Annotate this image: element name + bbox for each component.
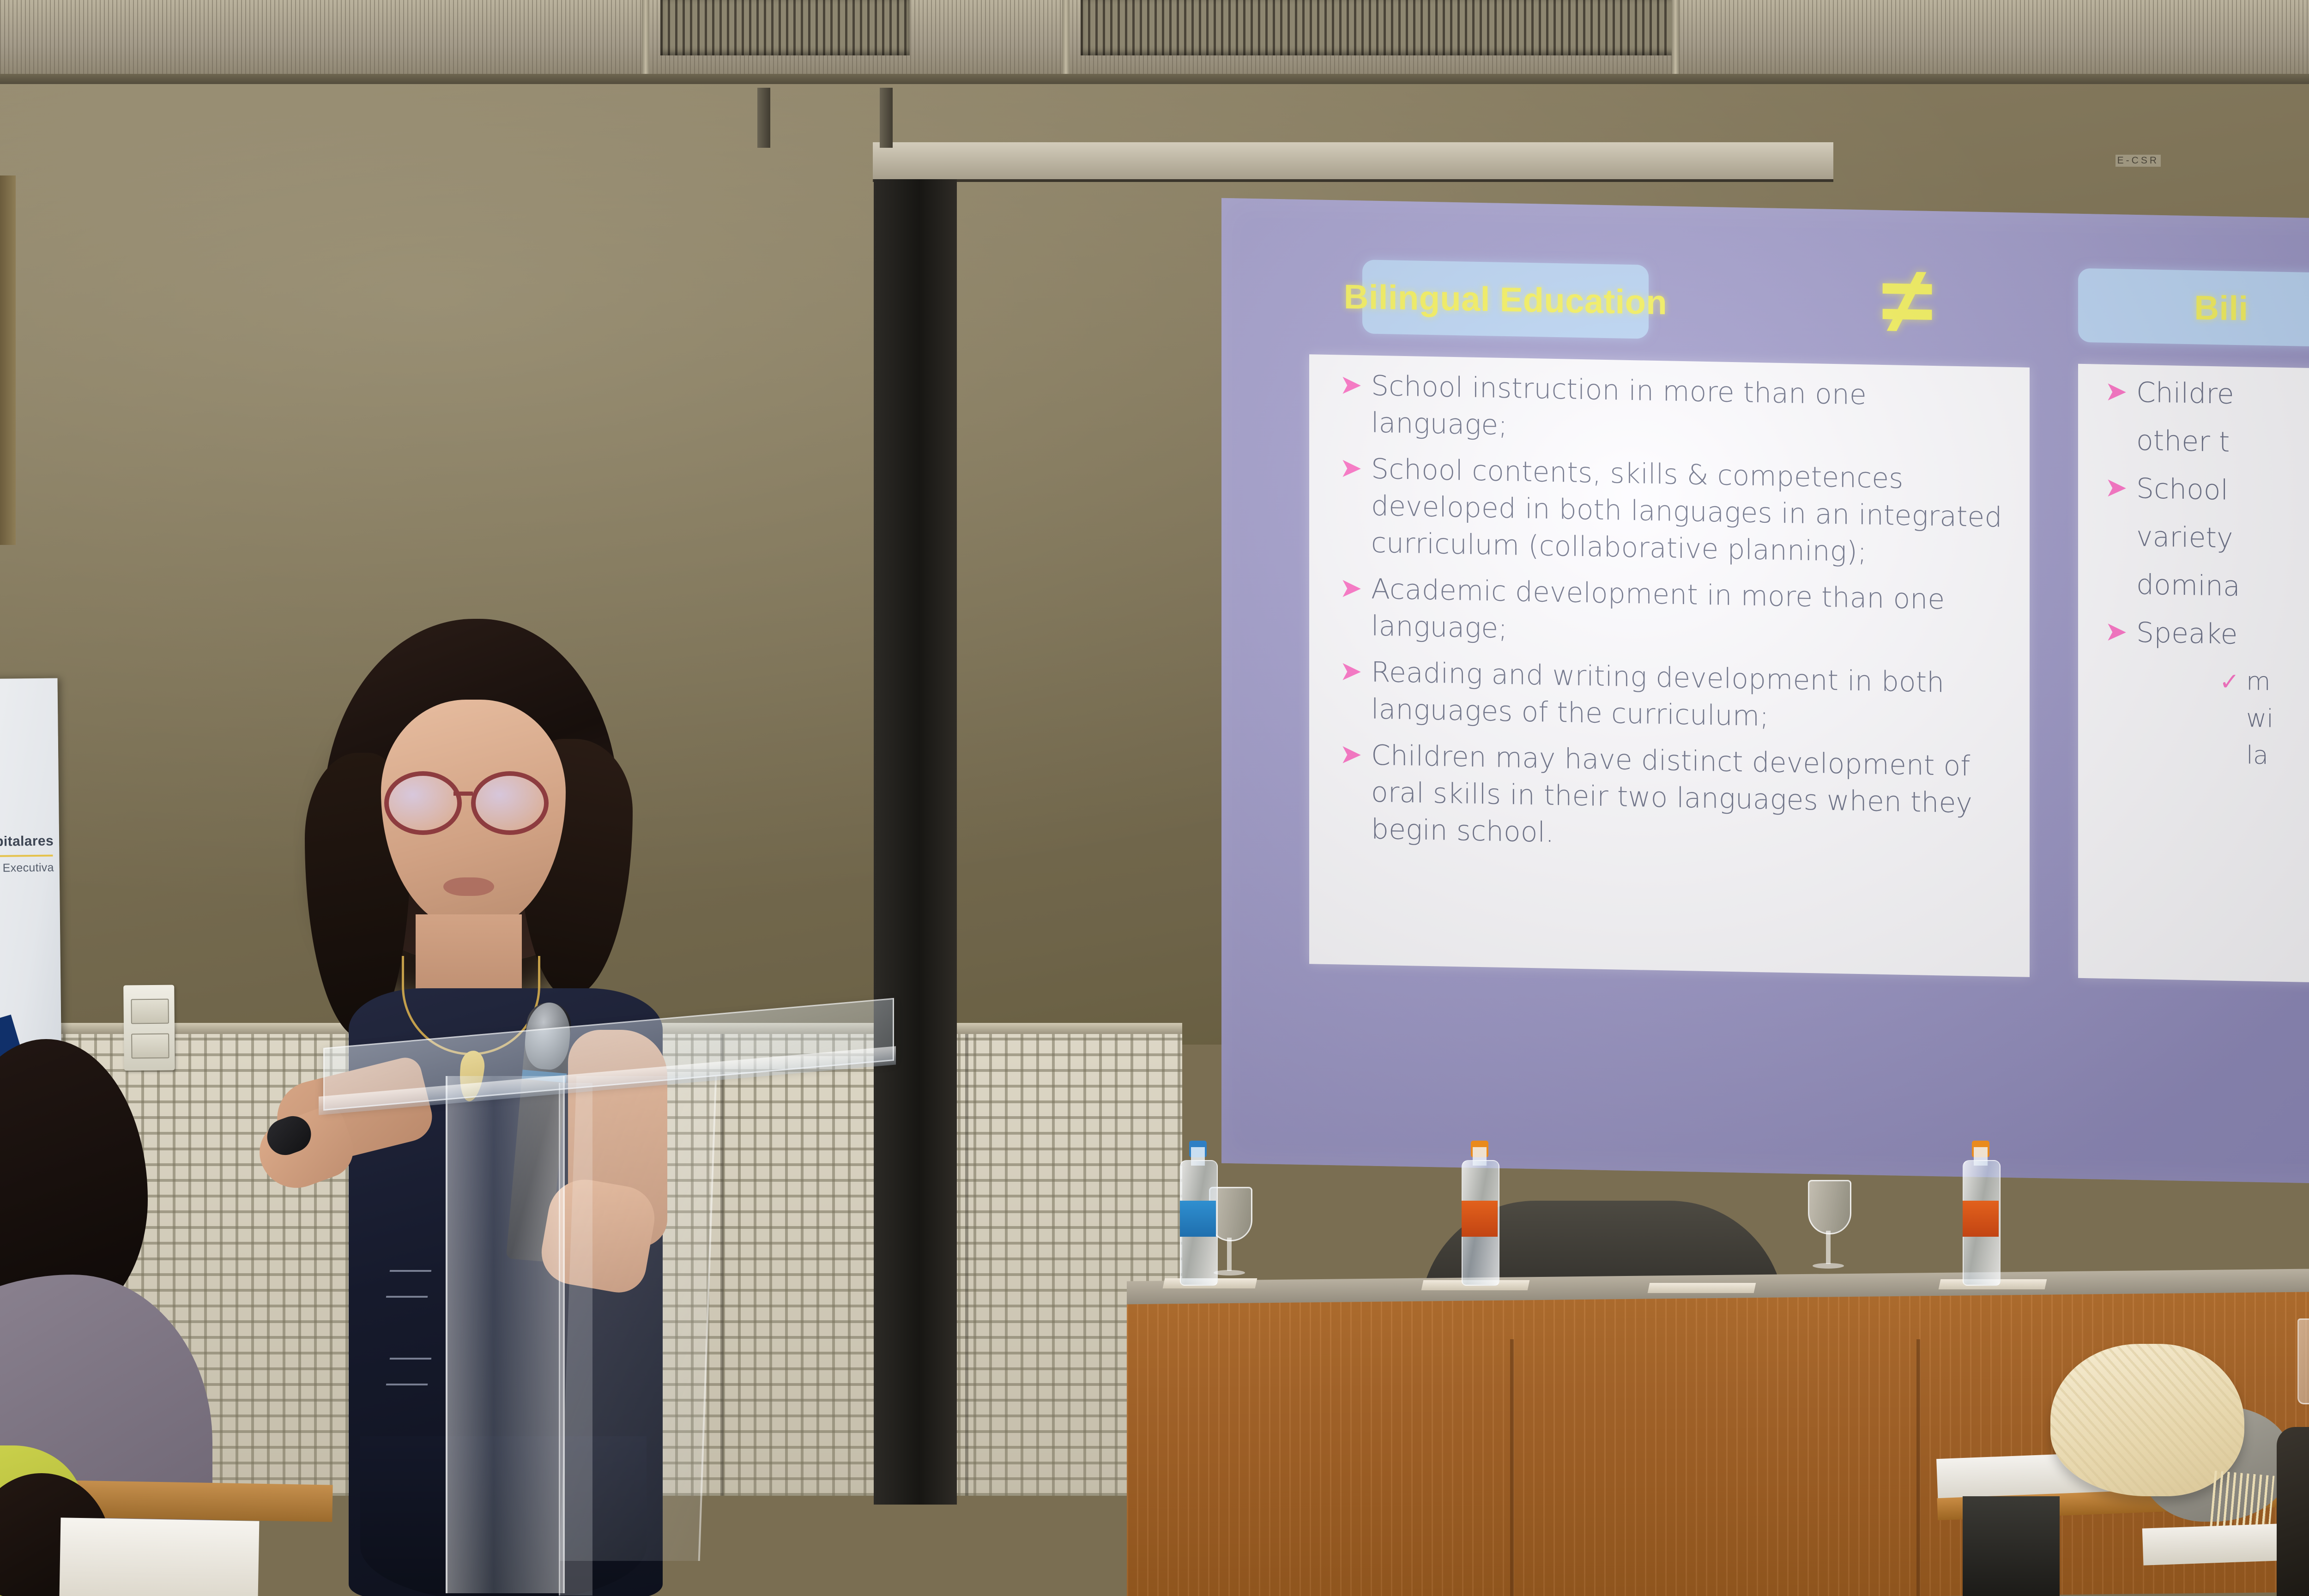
slide-bullet-text: variety [2136,520,2233,555]
arrow-bullet-icon: ➤ [1340,453,1362,482]
conference-room-photo: E-CSR Bilingual Education ≠ Bili ➤ Schoo… [0,0,2309,1596]
banner-divider [0,855,53,858]
arrow-bullet-icon: ➤ [2105,377,2128,405]
eyeglass-bridge [453,792,473,796]
table-panel-divider-2 [1916,1339,1920,1596]
arrow-bullet-icon: ➤ [1340,574,1362,602]
dress-lacing-2 [386,1358,431,1385]
slide-sub-bullet: ✓ m [2217,664,2309,701]
slide-title-left: Bilingual Education [1344,277,1667,322]
bottle-label [1180,1201,1216,1237]
water-bottle[interactable] [1462,1141,1498,1284]
wine-glass-stem [1227,1238,1232,1271]
slide-bullet-text: other t [2136,424,2230,459]
eyeglass-lens-right [471,771,549,835]
wine-glass[interactable] [1808,1180,1849,1270]
wine-glass-stem [1826,1231,1831,1264]
slide-bullet-continuation: other t [2097,421,2309,464]
shoulder-bag [2277,1427,2309,1596]
screen-bracket-right [880,88,893,148]
slide-left-content-panel: ➤ School instruction in more than one la… [1309,354,2030,977]
bottle-label [1963,1201,1999,1237]
banner-title: spitalares [0,834,54,851]
projection-screen-housing [873,142,1833,182]
lectern-side-panel [560,1076,717,1561]
slide-bullet: ➤ Speake [2097,613,2309,656]
table-panel-divider-1 [1510,1339,1514,1596]
slide-bullet-text: School contents, skills & competences de… [1371,453,2002,568]
lectern-column [446,1076,565,1593]
ceiling-beam-2 [1062,0,1070,81]
slide-sub-bullet-text: m [2246,666,2271,696]
door-frame [0,175,16,545]
eyeglass-lens-left [384,771,462,835]
slide-title-right: Bili [2194,288,2248,328]
slide-bullet-continuation: variety [2097,517,2309,560]
light-switch-rocker-bottom[interactable] [131,1034,169,1059]
check-bullet-icon: ✓ [2219,665,2240,699]
slide-bullet: ➤ School [2097,469,2309,512]
bottle-label [1462,1201,1498,1237]
wine-glass-foot [1214,1270,1245,1276]
slide-sub-bullet-text: wi [2246,703,2273,733]
slide-title-chip-right: Bili [2078,268,2309,347]
arrow-bullet-icon: ➤ [2105,617,2128,646]
arrow-bullet-icon: ➤ [2105,473,2128,502]
slide-bullet-text: School [2136,472,2228,507]
light-switch-plate[interactable] [123,985,175,1071]
foreground-chair[interactable] [1963,1496,2060,1596]
slide-bullet-text: Reading and writing development in both … [1371,656,1944,733]
arrow-bullet-icon: ➤ [1340,740,1362,768]
slide-bullet-continuation: domina [2097,565,2309,608]
ceiling-vent-right [1081,0,1676,55]
slide-bullet-text: Children may have distinct development o… [1371,739,1972,849]
screen-brand-label: E-CSR [2116,155,2161,167]
slide-title-chip-left: Bilingual Education [1362,260,1649,339]
slide-bullet-text: School instruction in more than one lang… [1371,370,1867,441]
slide-bullet-text: Childre [2136,376,2234,411]
slide-sub-bullet-text: la [2246,740,2268,770]
light-switch-rocker-top[interactable] [131,999,169,1024]
slide-bullet: ➤ School instruction in more than one la… [1331,367,2011,453]
slide-bullet: ➤ Reading and writing development in bot… [1331,653,2011,739]
slide-bullet: ➤ Children may have distinct development… [1331,736,2011,859]
drinking-glass-foreground[interactable] [2297,1318,2309,1404]
projection-screen-side-edge [874,179,957,1505]
water-bottle[interactable] [1963,1141,1999,1284]
banner-subtitle: a Executiva [0,861,54,876]
dress-lacing-1 [386,1270,431,1298]
slide-right-content-panel: ➤ Childre other t ➤ School variety domin… [2078,364,2309,984]
water-bottle[interactable] [1180,1141,1216,1284]
ceiling-beam-1 [642,0,649,81]
slide-bullet: ➤ Childre [2097,373,2309,416]
presenter-mouth [443,877,494,896]
projected-slide: Bilingual Education ≠ Bili ➤ School inst… [1221,198,2309,1185]
ceiling-beam-3 [1672,0,1679,81]
not-equal-icon: ≠ [1831,265,1983,344]
arrow-bullet-icon: ➤ [1340,657,1362,685]
slide-bullet: ➤ School contents, skills & competences … [1331,450,2011,573]
panel-seam-2 [965,1034,968,1496]
napkin-3 [1648,1283,1756,1293]
slide-sub-bullet-continuation: la [2217,738,2309,775]
slide-bullet-text: Speake [2136,617,2237,651]
eyeglasses-icon [384,771,555,827]
slide-bullet-text: Academic development in more than one la… [1371,573,1945,645]
wine-glass-foot [1813,1263,1844,1269]
arrow-bullet-icon: ➤ [1340,370,1362,399]
ceiling-vent-left [660,0,910,55]
slide-bullet-text: domina [2136,568,2240,603]
slide-bullet: ➤ Academic development in more than one … [1331,570,2011,656]
screen-bracket-left [757,88,770,148]
audience-papers [60,1517,260,1596]
wine-glass-bowl [1808,1180,1851,1234]
slide-sub-bullet-continuation: wi [2217,701,2309,738]
